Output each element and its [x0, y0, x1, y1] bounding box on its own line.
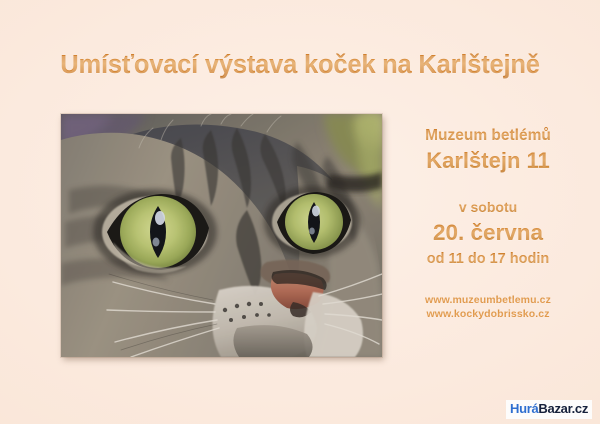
web-links: www.muzeumbetlemu.cz www.kockydobrissko.… — [383, 293, 593, 321]
watermark-hura: Hurá — [510, 401, 538, 416]
web-link-cats[interactable]: www.kockydobrissko.cz — [383, 307, 593, 321]
venue-address: Karlštejn 11 — [383, 146, 593, 176]
watermark-bazar: Bazar.cz — [538, 401, 588, 416]
poster-canvas: Umísťovací výstava koček na Karlštejně — [0, 0, 600, 424]
event-hours: od 11 do 17 hodin — [383, 250, 593, 269]
event-info-block: Muzeum betlémů Karlštejn 11 v sobotu 20.… — [383, 126, 593, 321]
hurabazar-watermark[interactable]: HuráBazar.cz — [506, 400, 592, 419]
venue-name: Muzeum betlémů — [383, 126, 593, 145]
event-date: 20. června — [383, 218, 593, 248]
cat-photo-illustration — [61, 114, 382, 357]
web-link-museum[interactable]: www.muzeumbetlemu.cz — [383, 293, 593, 307]
page-title: Umísťovací výstava koček na Karlštejně — [0, 50, 600, 80]
event-day: v sobotu — [383, 198, 593, 216]
cat-photo — [61, 114, 382, 357]
